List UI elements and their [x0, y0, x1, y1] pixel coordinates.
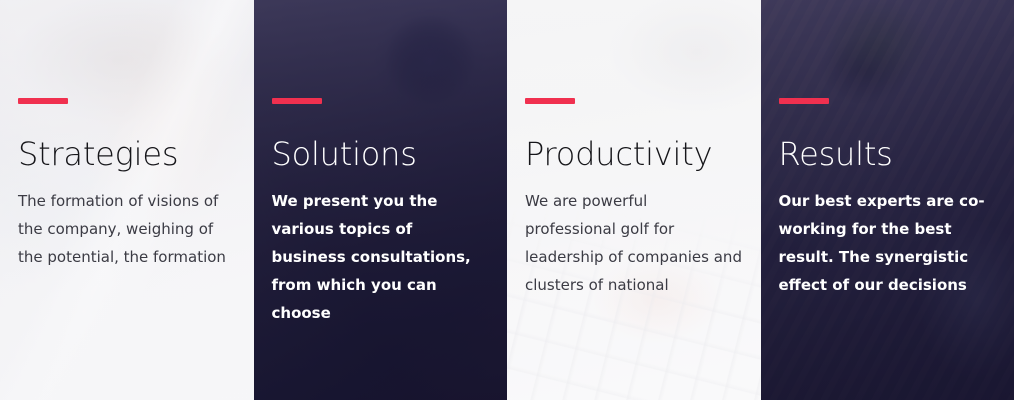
- productivity-title: Productivity: [525, 136, 743, 173]
- strategies-content: Strategies The formation of visions of t…: [0, 0, 254, 271]
- results-content: Results Our best experts are co-working …: [761, 0, 1014, 299]
- productivity-description: We are powerful professional golf for le…: [525, 187, 743, 299]
- feature-panel-strategies[interactable]: Strategies The formation of visions of t…: [0, 0, 254, 400]
- accent-bar-icon: [779, 98, 829, 104]
- solutions-description: We present you the various topics of bus…: [272, 187, 490, 327]
- feature-highlights-section: Strategies The formation of visions of t…: [0, 0, 1014, 400]
- results-title: Results: [779, 136, 997, 173]
- feature-panel-productivity[interactable]: Productivity We are powerful professiona…: [507, 0, 761, 400]
- productivity-content: Productivity We are powerful professiona…: [507, 0, 761, 299]
- accent-bar-icon: [525, 98, 575, 104]
- accent-bar-icon: [18, 98, 68, 104]
- strategies-title: Strategies: [18, 136, 236, 173]
- accent-bar-icon: [272, 98, 322, 104]
- results-description: Our best experts are co-working for the …: [779, 187, 997, 299]
- feature-panel-results[interactable]: Results Our best experts are co-working …: [761, 0, 1014, 400]
- feature-panel-solutions[interactable]: Solutions We present you the various top…: [254, 0, 508, 400]
- solutions-content: Solutions We present you the various top…: [254, 0, 508, 327]
- strategies-description: The formation of visions of the company,…: [18, 187, 236, 271]
- solutions-title: Solutions: [272, 136, 490, 173]
